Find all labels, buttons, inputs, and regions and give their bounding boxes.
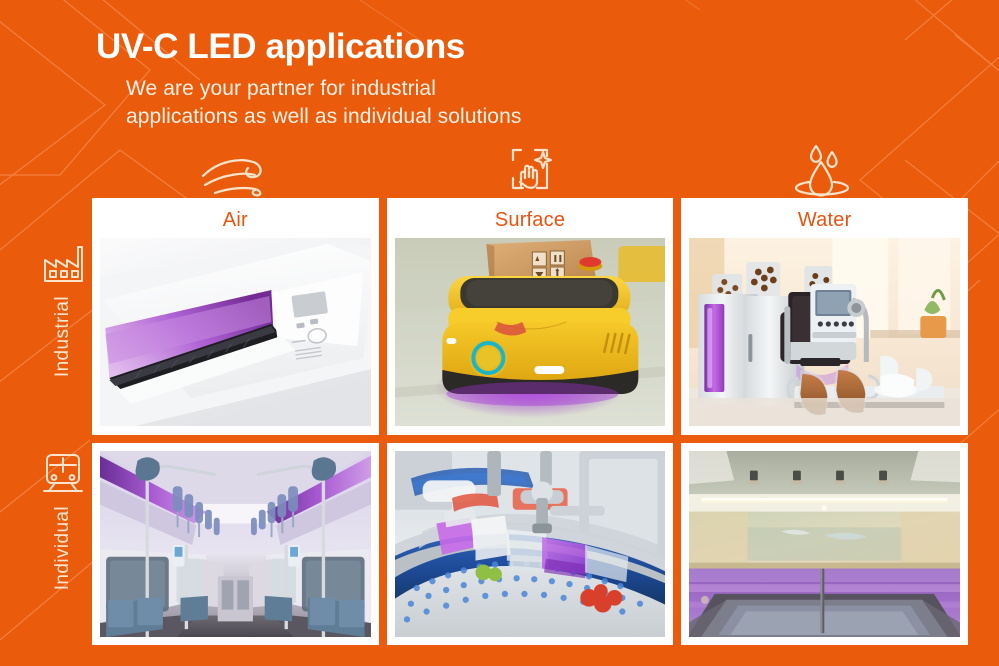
row-label-individual: Individual xyxy=(52,506,74,590)
cell-label-surface: Surface xyxy=(495,198,565,238)
cell-individual-surface[interactable] xyxy=(387,443,674,645)
hand-wipe-sparkle-icon xyxy=(503,144,557,198)
column-icons-row xyxy=(92,140,968,198)
page-title: UV-C LED applications xyxy=(96,29,999,64)
photo-air-conditioner xyxy=(100,238,371,426)
cell-label-air: Air xyxy=(223,198,248,238)
cell-industrial-air[interactable]: Air xyxy=(92,198,379,435)
column-icon-air xyxy=(92,140,384,198)
photo-train-interior xyxy=(100,451,371,637)
photo-coffee-machine xyxy=(689,238,960,426)
row-rail-individual: Individual xyxy=(34,452,92,590)
row-label-industrial: Industrial xyxy=(52,296,74,377)
cell-individual-pool[interactable] xyxy=(681,443,968,645)
train-icon xyxy=(41,452,85,494)
cell-label-water: Water xyxy=(798,198,852,238)
wind-icon xyxy=(197,146,279,198)
photo-conveyor-belt xyxy=(395,451,666,637)
photo-agv-robot xyxy=(395,238,666,426)
subtitle-line-1: We are your partner for industrial xyxy=(126,75,999,103)
applications-grid: Air xyxy=(92,198,968,645)
page-subtitle: We are your partner for industrial appli… xyxy=(126,75,999,131)
water-droplet-icon xyxy=(791,144,853,198)
column-icon-surface xyxy=(384,140,676,198)
subtitle-line-2: applications as well as individual solut… xyxy=(126,103,999,131)
row-rail-industrial: Industrial xyxy=(34,244,92,377)
cell-industrial-water[interactable]: Water xyxy=(681,198,968,435)
header: UV-C LED applications We are your partne… xyxy=(0,0,999,131)
cell-industrial-surface[interactable]: Surface xyxy=(387,198,674,435)
poster-root: UV-C LED applications We are your partne… xyxy=(0,0,999,666)
photo-indoor-pool xyxy=(689,451,960,637)
cell-individual-air[interactable] xyxy=(92,443,379,645)
factory-icon xyxy=(41,244,85,284)
column-icon-water xyxy=(676,140,968,198)
